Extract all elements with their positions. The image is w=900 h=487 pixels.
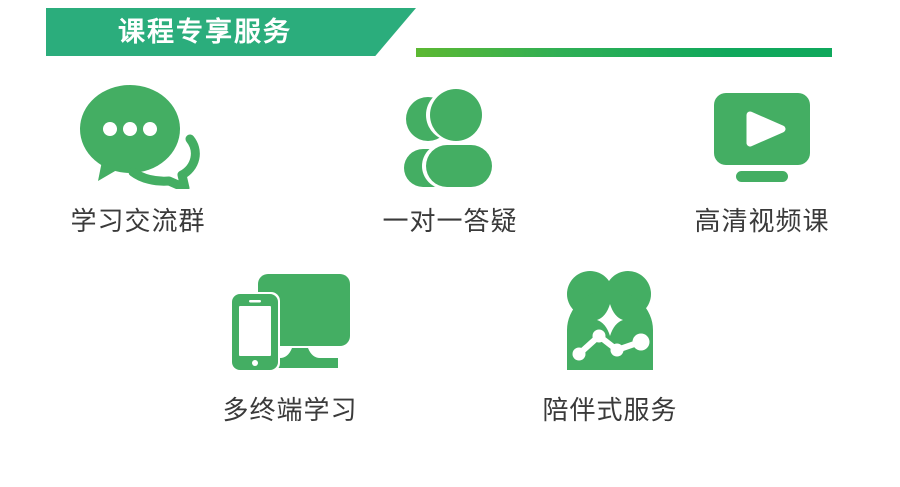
header-banner: 课程专享服务 [0,0,900,75]
banner-gradient-bar [416,48,832,57]
services-row-1: 学习交流群 一对一答疑 [0,81,900,238]
service-item-study-group[interactable]: 学习交流群 [34,81,242,238]
service-label: 陪伴式服务 [542,390,677,427]
service-item-multi-device[interactable]: 多终端学习 [186,266,394,427]
service-item-hd-video[interactable]: 高清视频课 [658,81,866,238]
service-label: 高清视频课 [694,201,829,238]
desktop-phone-icon [220,266,360,374]
companion-chart-icon [540,266,680,374]
service-label: 多终端学习 [222,390,357,427]
service-item-one-on-one[interactable]: 一对一答疑 [346,81,554,238]
video-monitor-play-icon [692,81,832,189]
service-item-companion-service[interactable]: 陪伴式服务 [506,266,714,427]
services-grid: 学习交流群 一对一答疑 [0,75,900,427]
service-label: 学习交流群 [70,201,205,238]
two-people-icon [380,81,520,189]
page-title: 课程专享服务 [118,19,292,46]
banner-shape: 课程专享服务 [46,8,416,56]
service-label: 一对一答疑 [382,201,517,238]
services-row-2: 多终端学习 陪伴式服务 [0,266,900,427]
chat-bubbles-icon [68,81,208,189]
